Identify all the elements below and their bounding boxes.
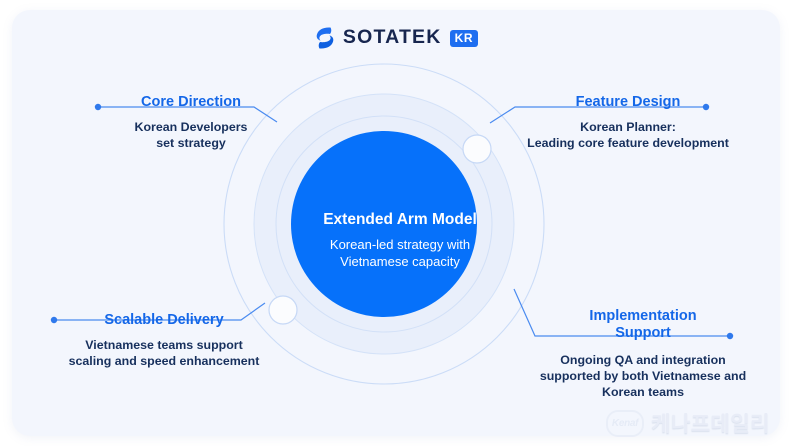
node-feature-design: Feature Design Korean Planner: Leading c… — [504, 94, 752, 151]
node-title-feature-design: Feature Design — [504, 94, 752, 111]
center-circle — [291, 131, 477, 317]
infographic-canvas: SOTATEK KR Extended Arm Model Korean-led… — [0, 0, 792, 446]
watermark-badge: Kenaf — [606, 410, 644, 437]
node-implementation-support: Implementation Support Ongoing QA and in… — [528, 308, 758, 400]
brand-region-badge: KR — [450, 30, 479, 47]
node-title-scalable-delivery: Scalable Delivery — [50, 312, 278, 329]
node-description-implementation-support: Ongoing QA and integration supported by … — [528, 352, 758, 400]
brand-logo: SOTATEK KR — [0, 24, 792, 52]
node-description-feature-design: Korean Planner: Leading core feature dev… — [504, 119, 752, 151]
node-title-implementation-support: Implementation Support — [528, 308, 758, 342]
node-title-core-direction: Core Direction — [106, 94, 276, 111]
node-description-core-direction: Korean Developers set strategy — [106, 119, 276, 151]
sotatek-logo-mark-icon — [314, 26, 336, 50]
brand-wordmark: SOTATEK — [343, 28, 442, 48]
node-scalable-delivery: Scalable Delivery Vietnamese teams suppo… — [50, 312, 278, 369]
node-core-direction: Core Direction Korean Developers set str… — [106, 94, 276, 151]
ring-node-top-right — [463, 135, 491, 163]
watermark-text: 케나프데일리 — [651, 408, 770, 438]
endpoint-dot-core-direction — [95, 104, 101, 110]
node-description-scalable-delivery: Vietnamese teams support scaling and spe… — [50, 337, 278, 369]
watermark: Kenaf 케나프데일리 — [606, 408, 770, 438]
